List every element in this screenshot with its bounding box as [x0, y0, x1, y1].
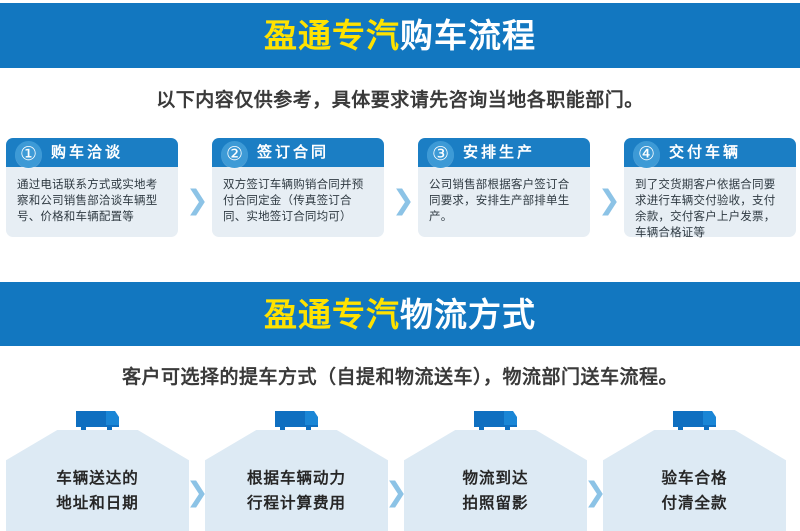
purchase-flow-phrase: 购车流程 [400, 16, 536, 55]
step-text-3: 公司销售部根据客户签订合同要求，安排生产部排单生产。 [429, 176, 579, 224]
logistics-card-2-text: 根据车辆动力 行程计算费用 [205, 466, 388, 516]
logistics-card-1-line1: 车辆送达的 [6, 466, 189, 491]
step-number-3: ③ [427, 141, 454, 168]
chevron-right-icon-step-2-3: ❯ [392, 188, 412, 214]
step-number-4: ④ [633, 141, 660, 168]
step-number-1: ① [15, 141, 42, 168]
truck-icon-4 [671, 409, 719, 433]
truck-icon-3 [472, 409, 520, 433]
logistics-card-3[interactable]: 物流到达 拍照留影 [404, 430, 587, 531]
logistics-phrase: 物流方式 [400, 295, 536, 334]
logistics-card-2-line1: 根据车辆动力 [205, 466, 388, 491]
logistics-card-4-line1: 验车合格 [603, 466, 786, 491]
logistics-subcaption: 客户可选择的提车方式（自提和物流送车），物流部门送车流程。 [0, 362, 800, 389]
logistics-card-3-line2: 拍照留影 [404, 491, 587, 516]
step-card-3[interactable]: ③ 安排生产 公司销售部根据客户签订合同要求，安排生产部排单生产。 [418, 138, 590, 237]
truck-icon-1 [74, 409, 122, 433]
step-card-4[interactable]: ④ 交付车辆 到了交货期客户依据合同要求进行车辆交付验收，支付余款，交付客户上户… [624, 138, 796, 237]
chevron-right-icon-step-1-2: ❯ [186, 188, 206, 214]
chevron-right-icon-logi-2-3: ❯ [385, 480, 405, 506]
step-card-4-body: 到了交货期客户依据合同要求进行车辆交付验收，支付余款，交付客户上户发票，车辆合格… [624, 167, 796, 237]
step-card-1-body: 通过电话联系方式或实地考察和公司销售部洽谈车辆型号、价格和车辆配置等 [6, 167, 178, 237]
step-card-1-header: ① 购车洽谈 [6, 138, 178, 167]
step-number-2: ② [221, 141, 248, 168]
chevron-right-icon-logi-1-2: ❯ [186, 480, 206, 506]
logistics-card-1-line2: 地址和日期 [6, 491, 189, 516]
logistics-banner-title: 盈通专汽物流方式 [264, 298, 536, 331]
purchase-flow-banner: 盈通专汽购车流程 [0, 3, 800, 68]
chevron-right-icon-step-3-4: ❯ [598, 188, 618, 214]
step-card-4-header: ④ 交付车辆 [624, 138, 796, 167]
purchase-flow-subcaption: 以下内容仅供参考，具体要求请先咨询当地各职能部门。 [0, 85, 800, 112]
step-card-3-body: 公司销售部根据客户签订合同要求，安排生产部排单生产。 [418, 167, 590, 237]
logistics-card-4-line2: 付清全款 [603, 491, 786, 516]
logistics-card-1-text: 车辆送达的 地址和日期 [6, 466, 189, 516]
chevron-glyph-3: ❯ [584, 480, 604, 506]
step-title-1: 购车洽谈 [51, 138, 123, 167]
brand-name: 盈通专汽 [264, 16, 400, 55]
chevron-right-icon-logi-3-4: ❯ [584, 480, 604, 506]
logistics-banner: 盈通专汽物流方式 [0, 282, 800, 346]
brand-name-2: 盈通专汽 [264, 295, 400, 334]
truck-icon-2 [273, 409, 321, 433]
step-title-4: 交付车辆 [669, 138, 741, 167]
step-card-2[interactable]: ② 签订合同 双方签订车辆购销合同并预付合同定金（传真签订合同、实地签订合同均可… [212, 138, 384, 237]
logistics-card-4[interactable]: 验车合格 付清全款 [603, 430, 786, 531]
logistics-card-3-line1: 物流到达 [404, 466, 587, 491]
purchase-flow-banner-title: 盈通专汽购车流程 [264, 19, 536, 52]
logistics-card-2-line2: 行程计算费用 [205, 491, 388, 516]
logistics-card-3-text: 物流到达 拍照留影 [404, 466, 587, 516]
chevron-glyph-1: ❯ [186, 480, 206, 506]
step-card-3-header: ③ 安排生产 [418, 138, 590, 167]
purchase-flow-steps: ① 购车洽谈 通过电话联系方式或实地考察和公司销售部洽谈车辆型号、价格和车辆配置… [6, 138, 794, 238]
step-title-2: 签订合同 [257, 138, 329, 167]
step-text-1: 通过电话联系方式或实地考察和公司销售部洽谈车辆型号、价格和车辆配置等 [17, 176, 167, 224]
step-card-1[interactable]: ① 购车洽谈 通过电话联系方式或实地考察和公司销售部洽谈车辆型号、价格和车辆配置… [6, 138, 178, 237]
step-card-2-body: 双方签订车辆购销合同并预付合同定金（传真签订合同、实地签订合同均可） [212, 167, 384, 237]
step-text-2: 双方签订车辆购销合同并预付合同定金（传真签订合同、实地签订合同均可） [223, 176, 373, 224]
logistics-card-4-text: 验车合格 付清全款 [603, 466, 786, 516]
logistics-card-1[interactable]: 车辆送达的 地址和日期 [6, 430, 189, 531]
logistics-cards: 车辆送达的 地址和日期 根据车辆动力 行程计算费用 物流到达 拍照留影 [0, 408, 800, 531]
step-text-4: 到了交货期客户依据合同要求进行车辆交付验收，支付余款，交付客户上户发票，车辆合格… [635, 176, 785, 240]
logistics-card-2[interactable]: 根据车辆动力 行程计算费用 [205, 430, 388, 531]
step-card-2-header: ② 签订合同 [212, 138, 384, 167]
step-title-3: 安排生产 [463, 138, 535, 167]
chevron-glyph-2: ❯ [385, 480, 405, 506]
